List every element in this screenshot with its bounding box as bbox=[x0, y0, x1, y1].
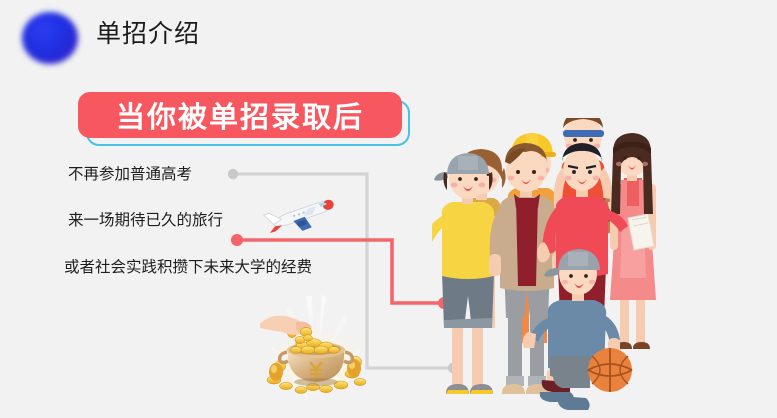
red-connector-dot-start bbox=[231, 234, 243, 246]
banner-heading: 当你被单招录取后 bbox=[78, 92, 418, 150]
gold-coins-pot-icon bbox=[256, 288, 376, 398]
gray-connector-dot-start bbox=[228, 169, 238, 179]
blue-gradient-circle-icon bbox=[22, 12, 78, 64]
page-title: 单招介绍 bbox=[96, 19, 200, 49]
students-group-illustration bbox=[432, 118, 732, 418]
bullet-text-1: 不再参加普通高考 bbox=[68, 164, 192, 184]
airplane-icon bbox=[262, 193, 338, 237]
bullet-text-2: 来一场期待已久的旅行 bbox=[68, 210, 223, 230]
banner-text: 当你被单招录取后 bbox=[78, 92, 402, 138]
slide-canvas: 单招介绍 当你被单招录取后 不再参加普通高考 来一场期待已久的旅行 或者社会实践… bbox=[0, 0, 777, 418]
slide-header: 单招介绍 bbox=[0, 0, 777, 80]
figure-girl-pinkdress-book bbox=[610, 133, 656, 349]
bullet-text-3: 或者社会实践积攒下未来大学的经费 bbox=[64, 257, 312, 277]
